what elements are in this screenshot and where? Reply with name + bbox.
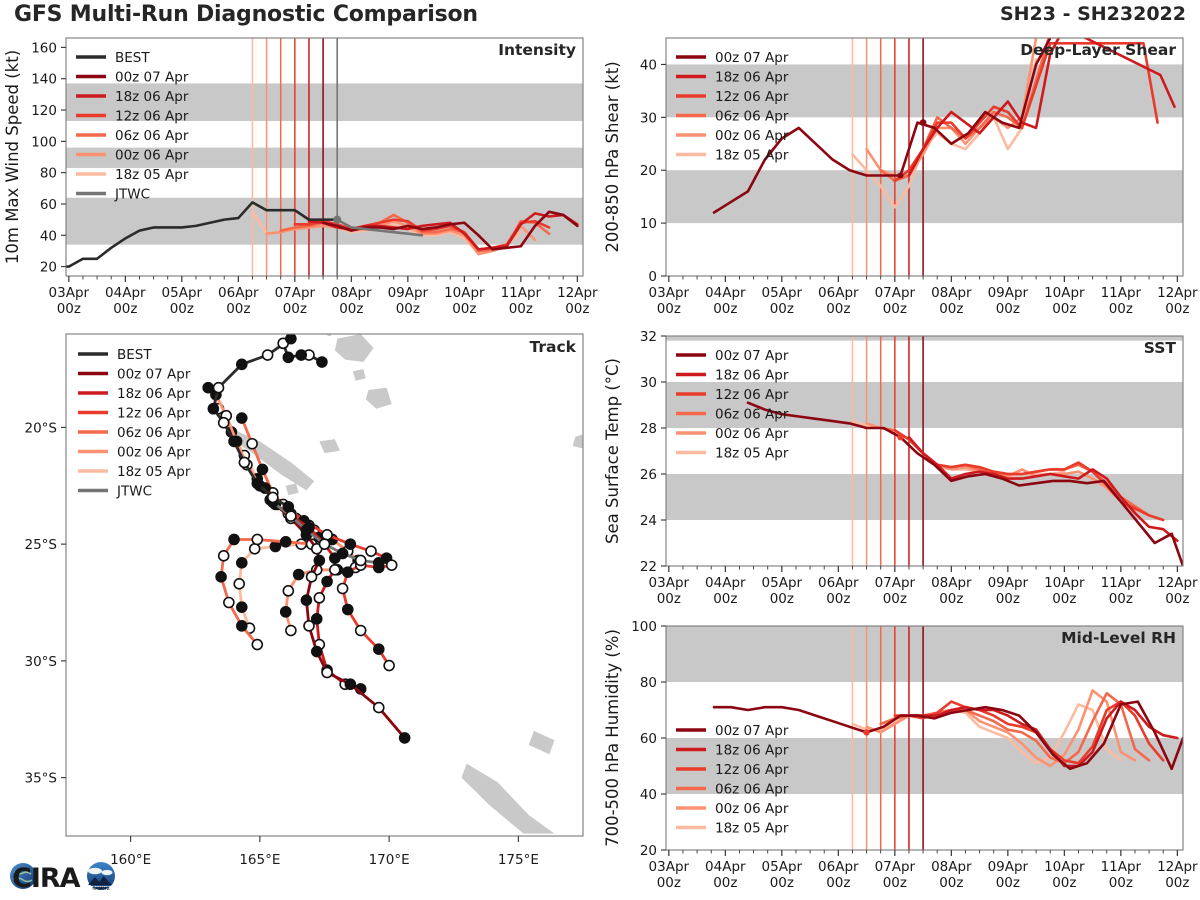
xtick-hour: 00z [883, 301, 907, 317]
xtick-hour: 00z [713, 301, 737, 317]
intensity-chart: 2040608010012014016003Apr00z04Apr00z05Ap… [0, 26, 600, 326]
page-title: GFS Multi-Run Diagnostic Comparison [14, 2, 478, 27]
cira-logo-graphic: CIRA RAMMB [8, 855, 118, 897]
cira-logo: CIRA RAMMB [8, 855, 118, 897]
track-marker-jtwc [320, 539, 330, 549]
xtick-hour: 00z [1109, 301, 1133, 317]
shear-plot-area: 01020304003Apr00z04Apr00z05Apr00z06Apr00… [603, 27, 1198, 317]
track-marker-06z-06-apr [237, 413, 247, 423]
svg-text:RAMMB: RAMMB [92, 886, 109, 892]
sst-panel-title: SST [1144, 339, 1177, 357]
ytick-label: 20 [40, 260, 57, 276]
xtick-day: 09Apr [988, 859, 1029, 875]
rh-chart: 2040608010003Apr00z04Apr00z05Apr00z06Apr… [600, 616, 1200, 900]
xtick-day: 11Apr [1101, 285, 1142, 301]
track-marker-best [263, 350, 273, 360]
xtick-hour: 00z [565, 301, 589, 317]
track-marker-00z-06-apr [294, 569, 304, 579]
xtick-hour: 00z [826, 591, 850, 607]
ytick-label: 60 [40, 197, 57, 213]
track-panel-title: Track [530, 338, 577, 356]
track-marker-18z-05-apr [270, 541, 280, 551]
ytick-label: 40 [40, 228, 57, 244]
xtick-hour: 00z [826, 301, 850, 317]
track-marker-12z-06-apr [322, 530, 332, 540]
xtick-hour: 00z [452, 301, 476, 317]
xtick-hour: 00z [396, 301, 420, 317]
shaded-band-0 [666, 170, 1183, 223]
legend-label: 18z 06 Apr [715, 70, 789, 86]
xtick-hour: 00z [713, 591, 737, 607]
track-marker-06z-06-apr [257, 464, 267, 474]
legend-label: 06z 06 Apr [117, 425, 191, 441]
track-ytick-label: 20°S [25, 420, 58, 436]
legend-label: 00z 06 Apr [715, 426, 789, 442]
xtick-day: 04Apr [705, 859, 746, 875]
track-marker-12z-06-apr [384, 661, 394, 671]
xtick-day: 06Apr [818, 285, 859, 301]
sst-ylabel: Sea Surface Temp (°C) [603, 358, 622, 544]
track-marker-best [252, 478, 262, 488]
track-marker-best [237, 359, 247, 369]
legend-label: 18z 06 Apr [715, 743, 789, 759]
xtick-hour: 00z [657, 591, 681, 607]
legend-label: 00z 07 Apr [115, 70, 189, 86]
sst-anchor-dot [897, 434, 903, 440]
track-marker-12z-06-apr [374, 644, 384, 654]
legend-label: 12z 06 Apr [117, 406, 191, 422]
ytick-label: 28 [640, 421, 657, 437]
shear-chart: 01020304003Apr00z04Apr00z05Apr00z06Apr00… [600, 26, 1200, 326]
xtick-day: 12Apr [1157, 859, 1198, 875]
xtick-day: 10Apr [1044, 285, 1085, 301]
xtick-hour: 00z [1109, 875, 1133, 891]
xtick-hour: 00z [1165, 875, 1189, 891]
track-marker-12z-06-apr [387, 560, 397, 570]
xtick-hour: 00z [939, 875, 963, 891]
legend-label: 12z 06 Apr [715, 387, 789, 403]
ytick-label: 100 [631, 619, 657, 635]
legend-label: 18z 05 Apr [115, 167, 189, 183]
track-marker-18z-05-apr [234, 579, 244, 589]
track-marker-best [283, 352, 293, 362]
track-marker-00z-07-apr [312, 647, 322, 657]
xtick-day: 12Apr [1157, 285, 1198, 301]
track-marker-00z-07-apr [374, 703, 384, 713]
xtick-hour: 00z [770, 875, 794, 891]
xtick-hour: 00z [939, 301, 963, 317]
xtick-hour: 00z [996, 301, 1020, 317]
legend-label: BEST [115, 50, 150, 66]
legend-label: 00z 06 Apr [715, 128, 789, 144]
track-marker-00z-07-apr [314, 555, 324, 565]
xtick-hour: 00z [883, 875, 907, 891]
track-ytick-label: 25°S [25, 537, 58, 553]
track-ytick-label: 35°S [25, 771, 58, 787]
xtick-hour: 00z [770, 591, 794, 607]
track-marker-00z-06-apr [283, 586, 293, 596]
ytick-label: 0 [648, 269, 657, 285]
track-marker-jtwc [374, 558, 384, 568]
track-marker-06z-06-apr [281, 537, 291, 547]
ytick-label: 30 [640, 375, 657, 391]
legend-label: 18z 06 Apr [715, 368, 789, 384]
track-marker-best [214, 383, 224, 393]
shear-panel-title: Deep-Layer Shear [1020, 41, 1176, 59]
track-xtick-label: 165°E [239, 852, 280, 868]
track-marker-best [219, 418, 229, 428]
legend-label: 18z 05 Apr [715, 148, 789, 164]
legend-label: 12z 06 Apr [115, 109, 189, 125]
xtick-day: 06Apr [218, 285, 259, 301]
legend-label: 06z 06 Apr [115, 128, 189, 144]
storm-id-label: SH23 - SH232022 [1000, 3, 1186, 25]
xtick-hour: 00z [1052, 875, 1076, 891]
xtick-hour: 00z [657, 301, 681, 317]
rh-anchor-dot [863, 729, 869, 735]
xtick-day: 05Apr [762, 575, 803, 591]
shaded-band-2 [666, 336, 1183, 341]
track-marker-18z-06-apr [330, 565, 340, 575]
track-marker-00z-06-apr [286, 626, 296, 636]
svg-text:CIRA: CIRA [12, 863, 81, 894]
panel-intensity: 2040608010012014016003Apr00z04Apr00z05Ap… [0, 26, 600, 326]
xtick-hour: 00z [1109, 591, 1133, 607]
track-marker-00z-07-apr [345, 679, 355, 689]
xtick-hour: 00z [113, 301, 137, 317]
ytick-label: 60 [640, 731, 657, 747]
legend-label: 18z 05 Apr [715, 821, 789, 837]
xtick-hour: 00z [996, 591, 1020, 607]
legend-label: 18z 06 Apr [117, 386, 191, 402]
xtick-day: 05Apr [162, 285, 203, 301]
track-marker-best [296, 350, 306, 360]
ytick-label: 40 [640, 787, 657, 803]
legend-label: 18z 06 Apr [115, 89, 189, 105]
intensity-panel-title: Intensity [498, 41, 576, 59]
legend-label: JTWC [116, 484, 152, 500]
track-ytick-label: 30°S [25, 654, 58, 670]
track-marker-jtwc [356, 555, 366, 565]
track-marker-best [317, 357, 327, 367]
xtick-hour: 00z [939, 591, 963, 607]
track-marker-jtwc [338, 548, 348, 558]
track-marker-12z-06-apr [366, 546, 376, 556]
legend-label: 00z 07 Apr [715, 348, 789, 364]
ytick-label: 30 [640, 110, 657, 126]
xtick-hour: 00z [57, 301, 81, 317]
xtick-hour: 00z [883, 591, 907, 607]
figure-canvas: GFS Multi-Run Diagnostic Comparison SH23… [0, 0, 1200, 900]
track-marker-jtwc [286, 511, 296, 521]
sst-plot-area: 22242628303203Apr00z04Apr00z05Apr00z06Ap… [603, 329, 1198, 607]
legend-label: 00z 07 Apr [715, 50, 789, 66]
xtick-day: 11Apr [1101, 859, 1142, 875]
panel-shear: 01020304003Apr00z04Apr00z05Apr00z06Apr00… [600, 26, 1200, 326]
xtick-day: 08Apr [931, 575, 972, 591]
panel-track: 20°S25°S30°S35°S160°E165°E170°E175°ETrac… [0, 326, 600, 900]
track-marker-18z-06-apr [314, 593, 324, 603]
track-marker-00z-07-apr [301, 595, 311, 605]
ytick-label: 10 [640, 216, 657, 232]
xtick-hour: 00z [1165, 301, 1189, 317]
ytick-label: 140 [31, 72, 57, 88]
ytick-label: 100 [31, 134, 57, 150]
xtick-hour: 00z [826, 875, 850, 891]
xtick-day: 10Apr [1044, 859, 1085, 875]
intensity-plot-area: 2040608010012014016003Apr00z04Apr00z05Ap… [3, 38, 598, 317]
xtick-day: 09Apr [388, 285, 429, 301]
xtick-day: 07Apr [875, 859, 916, 875]
xtick-day: 11Apr [1101, 575, 1142, 591]
xtick-hour: 00z [339, 301, 363, 317]
track-marker-12z-06-apr [345, 539, 355, 549]
xtick-day: 09Apr [988, 575, 1029, 591]
xtick-day: 03Apr [49, 285, 90, 301]
track-marker-best [286, 334, 296, 344]
ytick-label: 24 [640, 513, 657, 529]
track-marker-00z-07-apr [307, 572, 317, 582]
xtick-day: 08Apr [931, 859, 972, 875]
xtick-day: 10Apr [444, 285, 485, 301]
xtick-hour: 00z [226, 301, 250, 317]
xtick-day: 09Apr [988, 285, 1029, 301]
legend-label: 18z 05 Apr [715, 446, 789, 462]
track-marker-best [268, 492, 278, 502]
track-marker-18z-06-apr [322, 576, 332, 586]
rh-ylabel: 700-500 hPa Humidity (%) [603, 629, 622, 847]
xtick-hour: 00z [509, 301, 533, 317]
ytick-label: 120 [31, 103, 57, 119]
legend-label: 06z 06 Apr [715, 782, 789, 798]
xtick-day: 04Apr [705, 285, 746, 301]
track-marker-06z-06-apr [237, 621, 247, 631]
xtick-day: 03Apr [649, 859, 690, 875]
xtick-day: 04Apr [705, 575, 746, 591]
shear-anchor-dot-2 [897, 173, 903, 179]
ytick-label: 40 [640, 57, 657, 73]
rh-panel-title: Mid-Level RH [1061, 629, 1176, 647]
track-marker-jtwc [301, 525, 311, 535]
legend-label: 00z 06 Apr [715, 801, 789, 817]
panel-rh: 2040608010003Apr00z04Apr00z05Apr00z06Apr… [600, 616, 1200, 900]
rh-plot-area: 2040608010003Apr00z04Apr00z05Apr00z06Apr… [603, 619, 1198, 891]
xtick-day: 08Apr [931, 285, 972, 301]
ytick-label: 160 [31, 40, 57, 56]
track-marker-12z-06-apr [343, 605, 353, 615]
sst-chart: 22242628303203Apr00z04Apr00z05Apr00z06Ap… [600, 326, 1200, 616]
track-marker-12z-06-apr [356, 626, 366, 636]
xtick-hour: 00z [1052, 591, 1076, 607]
legend-label: 00z 07 Apr [117, 367, 191, 383]
xtick-day: 07Apr [275, 285, 316, 301]
track-marker-best [283, 502, 293, 512]
track-marker-best [239, 457, 249, 467]
legend-label: 18z 05 Apr [117, 464, 191, 480]
intensity-ylabel: 10m Max Wind Speed (kt) [3, 50, 22, 264]
track-marker-00z-06-apr [281, 607, 291, 617]
track-marker-00z-07-apr [400, 733, 410, 743]
ytick-label: 20 [640, 163, 657, 179]
ytick-label: 26 [640, 467, 657, 483]
track-xtick-label: 175°E [498, 852, 539, 868]
track-marker-12z-06-apr [338, 584, 348, 594]
shear-ylabel: 200-850 hPa Shear (kt) [603, 61, 622, 252]
track-marker-18z-05-apr [237, 602, 247, 612]
legend-label: BEST [117, 347, 152, 363]
xtick-day: 03Apr [649, 285, 690, 301]
track-marker-06z-06-apr [252, 640, 262, 650]
track-marker-00z-07-apr [304, 621, 314, 631]
xtick-hour: 00z [283, 301, 307, 317]
legend-label: JTWC [114, 187, 150, 203]
track-marker-12z-06-apr [343, 567, 353, 577]
legend-label: 00z 06 Apr [117, 445, 191, 461]
xtick-hour: 00z [170, 301, 194, 317]
track-marker-06z-06-apr [219, 551, 229, 561]
xtick-day: 07Apr [875, 285, 916, 301]
xtick-day: 08Apr [331, 285, 372, 301]
xtick-day: 06Apr [818, 575, 859, 591]
xtick-hour: 00z [1052, 301, 1076, 317]
track-marker-00z-07-apr [322, 668, 332, 678]
xtick-hour: 00z [1165, 591, 1189, 607]
track-map: 20°S25°S30°S35°S160°E165°E170°E175°ETrac… [0, 326, 600, 900]
jtwc-anchor-dot [333, 216, 341, 224]
track-marker-06z-06-apr [216, 572, 226, 582]
xtick-day: 03Apr [649, 575, 690, 591]
ytick-label: 20 [640, 843, 657, 859]
xtick-day: 12Apr [1157, 575, 1198, 591]
legend-label: 12z 06 Apr [715, 762, 789, 778]
track-marker-best [229, 436, 239, 446]
xtick-day: 05Apr [762, 859, 803, 875]
shear-anchor-dot [920, 119, 927, 126]
xtick-day: 12Apr [557, 285, 598, 301]
legend-label: 12z 06 Apr [715, 89, 789, 105]
xtick-day: 06Apr [818, 859, 859, 875]
track-marker-18z-05-apr [237, 558, 247, 568]
track-plot-area: 20°S25°S30°S35°S160°E165°E170°E175°ETrac… [25, 280, 584, 868]
legend-label: 00z 06 Apr [115, 148, 189, 164]
track-marker-06z-06-apr [252, 534, 262, 544]
track-marker-06z-06-apr [247, 439, 257, 449]
xtick-hour: 00z [657, 875, 681, 891]
panel-sst: 22242628303203Apr00z04Apr00z05Apr00z06Ap… [600, 326, 1200, 616]
xtick-hour: 00z [770, 301, 794, 317]
track-xtick-label: 170°E [369, 852, 410, 868]
track-marker-best [208, 404, 218, 414]
xtick-hour: 00z [996, 875, 1020, 891]
track-marker-06z-06-apr [229, 534, 239, 544]
xtick-day: 11Apr [501, 285, 542, 301]
xtick-day: 04Apr [105, 285, 146, 301]
ytick-label: 80 [640, 675, 657, 691]
legend-label: 06z 06 Apr [715, 109, 789, 125]
legend-label: 00z 07 Apr [715, 723, 789, 739]
xtick-day: 07Apr [875, 575, 916, 591]
legend-label: 06z 06 Apr [715, 407, 789, 423]
ytick-label: 32 [640, 329, 657, 345]
xtick-day: 10Apr [1044, 575, 1085, 591]
xtick-day: 05Apr [762, 285, 803, 301]
track-marker-06z-06-apr [224, 598, 234, 608]
xtick-hour: 00z [713, 875, 737, 891]
ytick-label: 80 [40, 166, 57, 182]
ytick-label: 22 [640, 559, 657, 575]
track-marker-18z-05-apr [250, 544, 260, 554]
